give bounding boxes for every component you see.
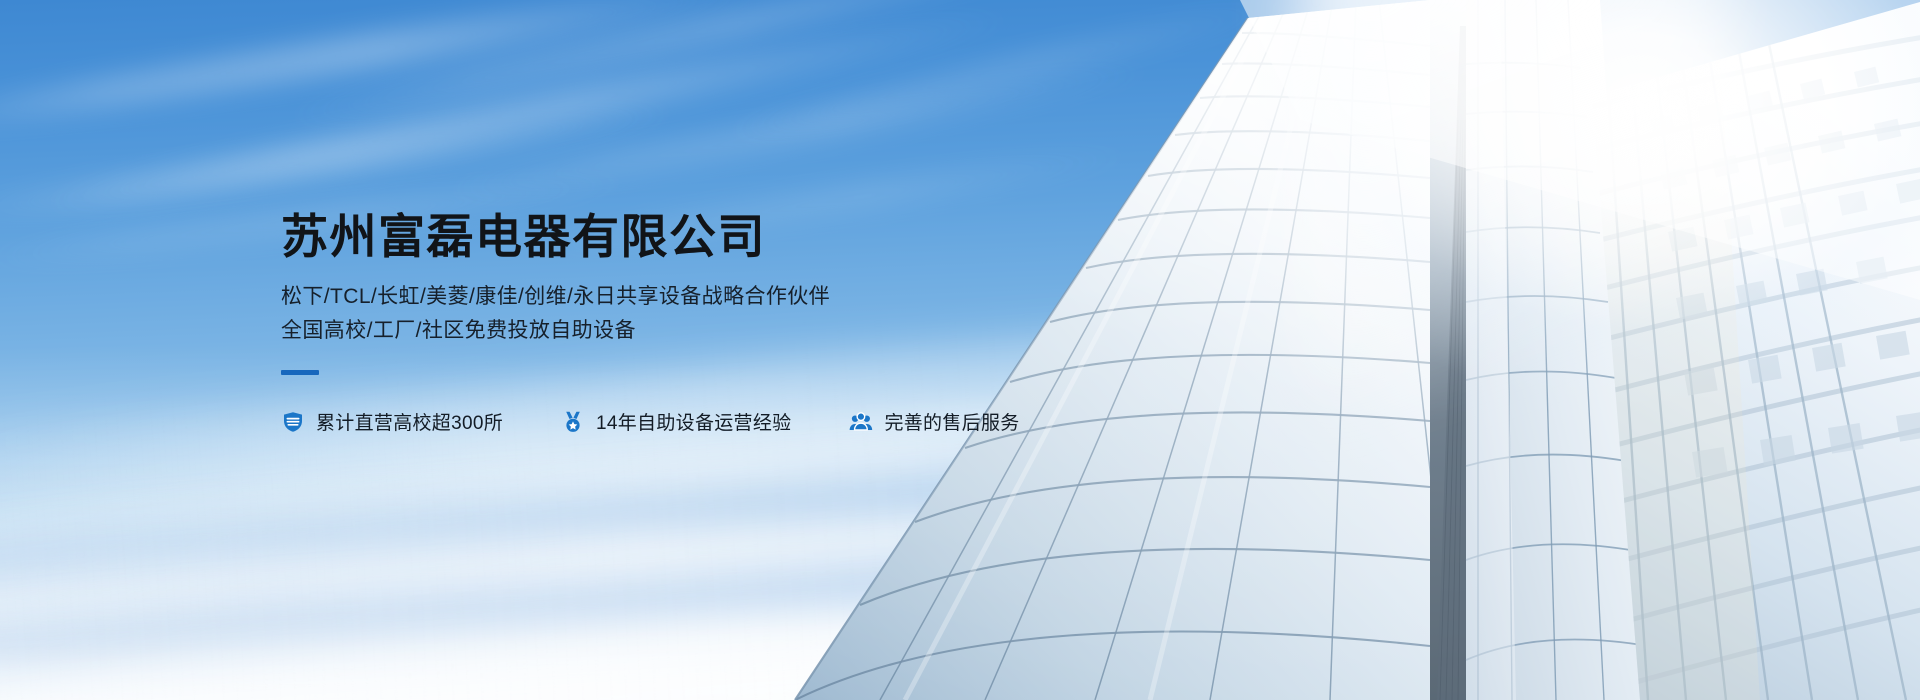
hero-banner: 苏州富磊电器有限公司 松下/TCL/长虹/美菱/康佳/创维/永日共享设备战略合作… <box>0 0 1920 700</box>
users-icon <box>849 410 873 434</box>
feature-item-experience: 14年自助设备运营经验 <box>561 408 791 435</box>
hero-content: 苏州富磊电器有限公司 松下/TCL/长虹/美菱/康佳/创维/永日共享设备战略合作… <box>281 208 1061 435</box>
shield-icon <box>281 410 305 434</box>
subtitle-line-2: 全国高校/工厂/社区免费投放自助设备 <box>281 314 1061 348</box>
feature-label: 累计直营高校超300所 <box>316 408 503 435</box>
feature-item-schools: 累计直营高校超300所 <box>281 408 503 435</box>
accent-divider <box>281 370 319 375</box>
subtitle-list: 松下/TCL/长虹/美菱/康佳/创维/永日共享设备战略合作伙伴 全国高校/工厂/… <box>281 280 1061 348</box>
medal-icon <box>561 410 585 434</box>
feature-label: 14年自助设备运营经验 <box>596 408 791 435</box>
page-title: 苏州富磊电器有限公司 <box>281 208 1061 265</box>
feature-label: 完善的售后服务 <box>884 408 1019 435</box>
feature-list: 累计直营高校超300所 14年自助设备运营经验 <box>281 408 1061 435</box>
subtitle-line-1: 松下/TCL/长虹/美菱/康佳/创维/永日共享设备战略合作伙伴 <box>281 280 1061 314</box>
feature-item-service: 完善的售后服务 <box>849 408 1019 435</box>
